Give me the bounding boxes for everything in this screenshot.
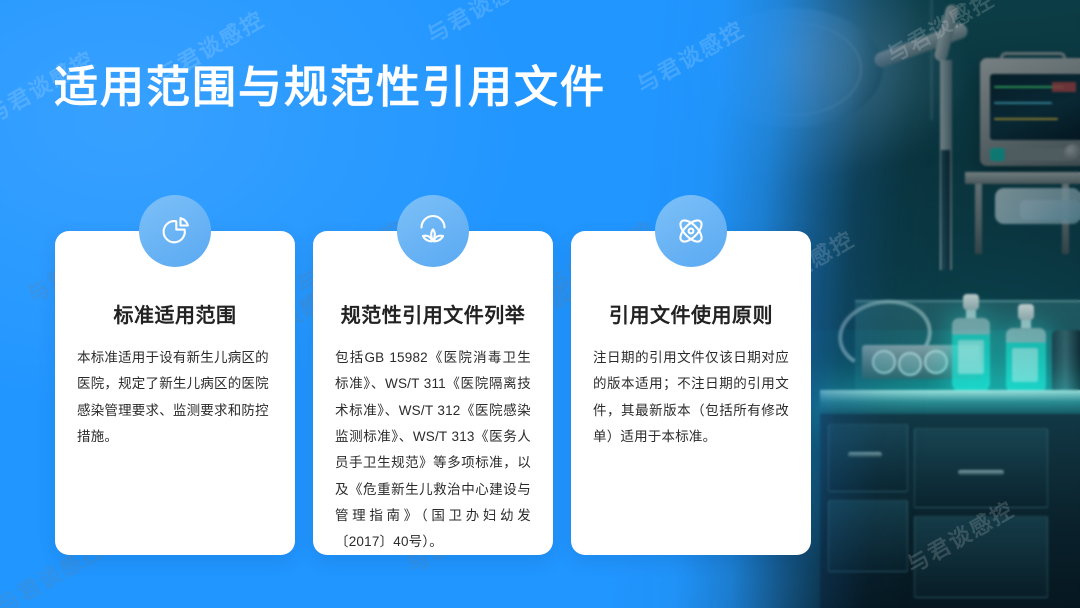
card-body: 本标准适用于设有新生儿病区的医院，规定了新生儿病区的医院感染管理要求、监测要求和…	[77, 345, 273, 450]
card-body: 包括GB 15982《医院消毒卫生标准》、WS/T 311《医院隔离技术标准》、…	[335, 345, 531, 556]
card-row: 标准适用范围 本标准适用于设有新生儿病区的医院，规定了新生儿病区的医院感染管理要…	[55, 231, 811, 555]
card-title: 规范性引用文件列举	[335, 303, 531, 329]
pie-chart-icon	[139, 195, 211, 267]
card-normative-references[interactable]: 规范性引用文件列举 包括GB 15982《医院消毒卫生标准》、WS/T 311《…	[313, 231, 553, 555]
slide-root: 与君谈感控 与君谈感控 与君谈感控 与君谈感控 与君谈感控 与君谈感控 与君谈感…	[0, 0, 1080, 608]
card-title: 引用文件使用原则	[593, 303, 789, 329]
lotus-leaf-icon	[397, 195, 469, 267]
card-body: 注日期的引用文件仅该日期对应的版本适用；不注日期的引用文件，其最新版本（包括所有…	[593, 345, 789, 450]
atom-icon	[655, 195, 727, 267]
page-title: 适用范围与规范性引用文件	[54, 63, 606, 114]
card-title: 标准适用范围	[77, 303, 273, 329]
card-standard-scope[interactable]: 标准适用范围 本标准适用于设有新生儿病区的医院，规定了新生儿病区的医院感染管理要…	[55, 231, 295, 555]
card-citation-principles[interactable]: 引用文件使用原则 注日期的引用文件仅该日期对应的版本适用；不注日期的引用文件，其…	[571, 231, 811, 555]
